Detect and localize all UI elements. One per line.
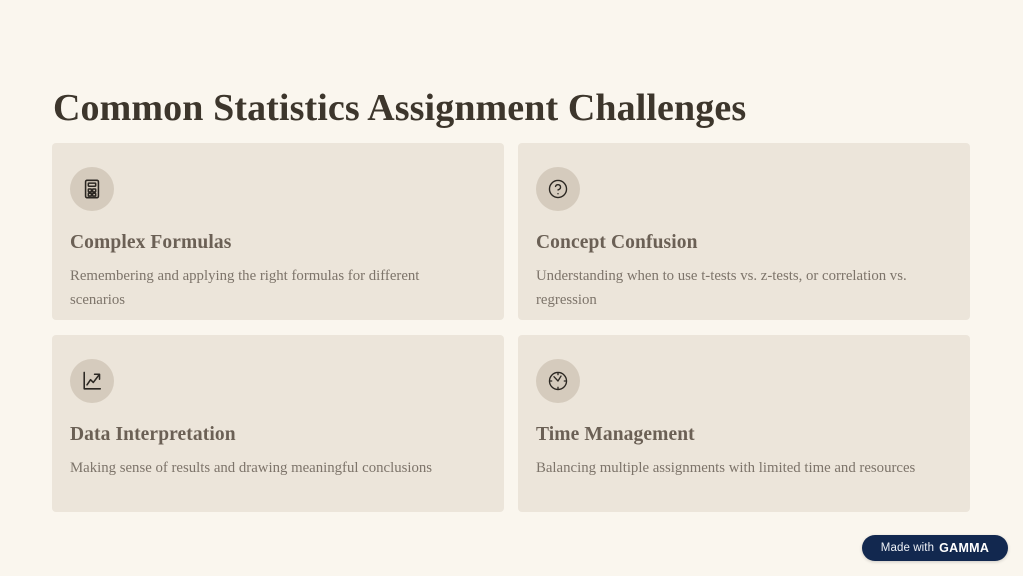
card-description: Remembering and applying the right formu… — [70, 265, 476, 313]
icon-badge — [536, 167, 580, 211]
challenge-card[interactable]: Concept Confusion Understanding when to … — [518, 143, 970, 320]
card-title: Complex Formulas — [70, 231, 476, 254]
card-title: Concept Confusion — [536, 231, 942, 254]
challenge-card[interactable]: Time Management Balancing multiple assig… — [518, 335, 970, 512]
card-description: Understanding when to use t-tests vs. z-… — [536, 265, 942, 313]
line-chart-up-icon — [81, 370, 103, 392]
page-title: Common Statistics Assignment Challenges — [53, 87, 746, 131]
clock-icon — [547, 370, 569, 392]
card-title: Time Management — [536, 423, 942, 446]
challenge-card[interactable]: Data Interpretation Making sense of resu… — [52, 335, 504, 512]
card-title: Data Interpretation — [70, 423, 476, 446]
made-with-gamma-badge[interactable]: Made with GAMMA — [862, 535, 1008, 561]
challenge-card[interactable]: Complex Formulas Remembering and applyin… — [52, 143, 504, 320]
challenge-card-grid: Complex Formulas Remembering and applyin… — [52, 143, 970, 512]
slide-canvas: Common Statistics Assignment Challenges … — [0, 0, 1023, 576]
card-description: Balancing multiple assignments with limi… — [536, 457, 942, 481]
calculator-icon — [81, 178, 103, 200]
icon-badge — [70, 167, 114, 211]
question-circle-icon — [547, 178, 569, 200]
icon-badge — [536, 359, 580, 403]
badge-prefix-label: Made with — [881, 542, 934, 554]
card-description: Making sense of results and drawing mean… — [70, 457, 476, 481]
icon-badge — [70, 359, 114, 403]
gamma-wordmark: GAMMA — [939, 541, 989, 555]
